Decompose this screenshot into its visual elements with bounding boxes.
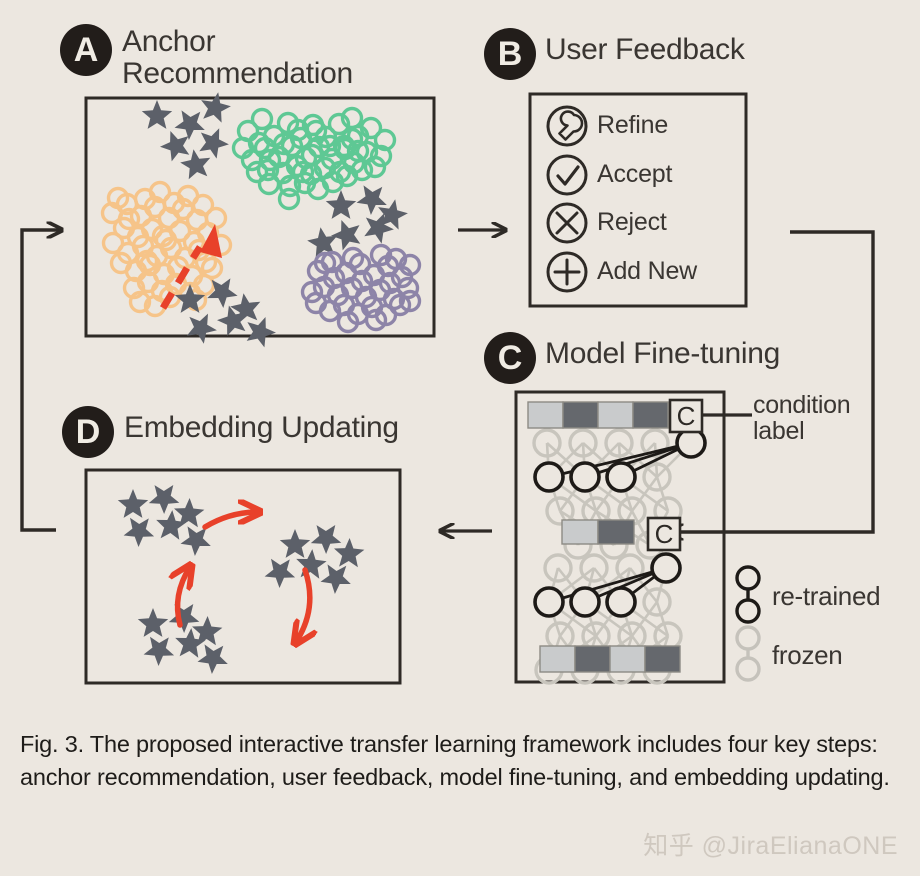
condition-label-box-top: C [670,400,702,432]
top-condition-bar [528,402,668,428]
retrained-node [571,588,599,616]
retrained-node [652,554,680,582]
wrench-icon[interactable] [548,107,586,145]
feedback-label-reject[interactable]: Reject [597,208,667,237]
figure-root: C C A Anchor [0,0,920,876]
cluster-stars-top-left [118,485,211,556]
cross-icon[interactable] [548,204,586,242]
panel-badge-c: C [484,332,536,384]
retrained-node [535,588,563,616]
figure-caption: Fig. 3. The proposed interactive transfe… [20,728,896,794]
legend-retrained-glyph [737,567,759,622]
condition-label-annotation: condition label [753,392,850,444]
condition-label-letter-top: C [677,401,696,431]
feedback-label-refine[interactable]: Refine [597,111,668,140]
feedback-label-accept[interactable]: Accept [597,160,672,189]
middle-condition-bar [562,520,634,544]
panel-title-c: Model Fine-tuning [545,338,780,370]
cluster-stars-top-left [142,92,231,179]
cluster-stars-right [265,525,365,594]
feedback-label-add-new[interactable]: Add New [597,257,697,286]
panel-badge-d: D [62,406,114,458]
retrained-node [571,463,599,491]
watermark: 知乎 @JiraElianaONE [643,826,898,862]
panel-title-a: Anchor Recommendation [122,26,353,91]
panel-title-b: User Feedback [545,34,745,66]
plus-icon[interactable] [548,253,586,291]
bottom-condition-bar [540,646,680,672]
check-icon[interactable] [548,156,586,194]
legend-label-retrained: re-trained [772,581,880,612]
legend-label-frozen: frozen [772,640,842,671]
retrained-node [535,463,563,491]
legend-frozen-glyph [737,627,759,680]
retrained-node [607,463,635,491]
panel-badge-b: B [484,28,536,80]
loop-b-to-c [668,232,873,532]
cluster-circles-purple [303,246,420,332]
condition-label-box-middle: C [648,518,680,550]
retrained-node [607,588,635,616]
condition-label-letter-middle: C [655,519,674,549]
cluster-stars-bottom-left [138,604,228,674]
panel-title-d: Embedding Updating [124,412,399,444]
loop-d-to-a [22,230,62,530]
panel-a-scatter [103,92,420,347]
feedback-icons [548,107,586,291]
panel-badge-a: A [60,24,112,76]
